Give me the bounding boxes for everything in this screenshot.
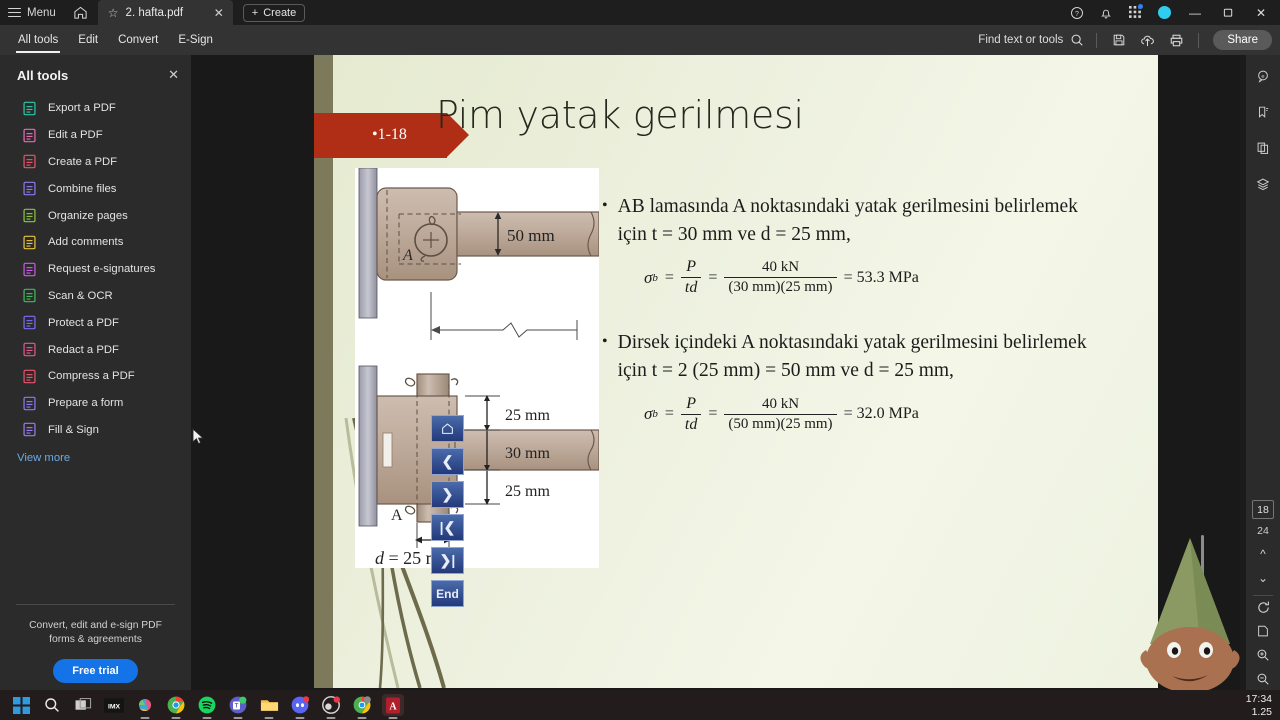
create-label: Create — [263, 7, 296, 19]
bullet-dot: • — [602, 329, 608, 384]
imx-app[interactable]: IMX — [103, 694, 125, 716]
slide-nav-buttons: ❮ ❯ |❮ ❯| End — [431, 415, 467, 613]
all-tools-item-label: Redact a PDF — [48, 344, 119, 356]
system-clock[interactable]: 17:34 1.25 — [1246, 693, 1272, 719]
slide-nav-last-button[interactable]: ❯| — [431, 547, 464, 574]
page-up-button[interactable]: ^ — [1246, 547, 1280, 561]
divider — [1198, 33, 1199, 48]
combine-files-icon — [22, 181, 37, 196]
fraction-numerator: 40 kN — [758, 396, 803, 414]
edit-pdf-icon — [22, 128, 37, 143]
acrobat-app[interactable]: A — [382, 694, 404, 716]
fraction-denominator: td — [681, 414, 701, 434]
divider — [16, 604, 175, 605]
find-label: Find text or tools — [978, 34, 1063, 46]
start-button[interactable] — [10, 694, 32, 716]
divider — [1096, 33, 1097, 48]
account-avatar-icon[interactable] — [1151, 0, 1177, 25]
maximize-button[interactable] — [1213, 0, 1243, 25]
fraction-denominator: (50 mm)(25 mm) — [724, 414, 836, 433]
all-tools-item-combine-files[interactable]: Combine files — [0, 175, 191, 202]
notification-dot — [1138, 4, 1143, 9]
all-tools-item-compress-a-pdf[interactable]: Compress a PDF — [0, 363, 191, 390]
fit-page-icon[interactable] — [1246, 624, 1280, 638]
star-icon[interactable]: ☆ — [108, 6, 119, 20]
tab-convert[interactable]: Convert — [108, 25, 168, 55]
sigma-subscript: b — [652, 272, 658, 284]
mouse-cursor — [192, 428, 205, 446]
windows-taskbar: IMX T — [0, 690, 1280, 720]
compress-pdf-icon — [22, 369, 37, 384]
equals-sign: = — [665, 269, 674, 287]
fraction-p-td: P td — [681, 395, 701, 434]
figure-label-50mm: 50 mm — [507, 226, 555, 245]
chrome-beta-app[interactable] — [351, 694, 373, 716]
close-icon[interactable]: ✕ — [168, 67, 179, 83]
tab-title: 2. hafta.pdf — [126, 7, 205, 19]
all-tools-item-label: Organize pages — [48, 210, 128, 222]
slide-nav-first-button[interactable]: |❮ — [431, 514, 464, 541]
fraction-numeric: 40 kN (50 mm)(25 mm) — [724, 396, 836, 433]
share-button[interactable]: Share — [1213, 30, 1272, 50]
file-explorer-app[interactable] — [258, 694, 280, 716]
title-bar: Menu ☆ 2. hafta.pdf ✕ + Create ? — [0, 0, 1280, 25]
equals-sign: = — [665, 405, 674, 423]
zoom-in-icon[interactable] — [1246, 648, 1280, 662]
page-down-button[interactable]: ⌄ — [1246, 571, 1280, 585]
figure-point-a-bottom: A — [391, 507, 403, 524]
bell-icon[interactable] — [1093, 0, 1119, 25]
gnome-character-overlay — [1134, 532, 1246, 692]
right-rail: e 18 24 ^ ⌄ — [1246, 55, 1280, 720]
all-tools-header: All tools ✕ — [0, 55, 191, 83]
hamburger-icon — [8, 5, 21, 20]
fraction-numerator: P — [682, 395, 700, 414]
all-tools-item-label: Export a PDF — [48, 102, 116, 114]
all-tools-item-label: Edit a PDF — [48, 129, 103, 141]
save-icon[interactable] — [1105, 27, 1132, 53]
menu-button[interactable]: Menu — [0, 0, 65, 25]
slide-nav-next-button[interactable]: ❯ — [431, 481, 464, 508]
figure-label-30mm: 30 mm — [505, 445, 550, 462]
equals-sign: = — [708, 269, 717, 287]
all-tools-item-request-e-signatures[interactable]: Request e-signatures — [0, 256, 191, 283]
all-tools-item-label: Prepare a form — [48, 397, 123, 409]
home-button[interactable] — [65, 0, 96, 25]
all-tools-item-label: Add comments — [48, 236, 123, 248]
fraction-denominator: (30 mm)(25 mm) — [724, 277, 836, 296]
svg-text:e: e — [1261, 74, 1264, 80]
all-tools-item-organize-pages[interactable]: Organize pages — [0, 202, 191, 229]
fraction-numeric: 40 kN (30 mm)(25 mm) — [724, 259, 836, 296]
cloud-upload-icon[interactable] — [1134, 27, 1161, 53]
apps-grid-icon[interactable] — [1122, 0, 1148, 25]
all-tools-item-redact-a-pdf[interactable]: Redact a PDF — [0, 336, 191, 363]
search-icon — [1070, 33, 1084, 47]
organize-pages-icon — [22, 208, 37, 223]
share-label: Share — [1227, 34, 1258, 46]
svg-text:T: T — [235, 704, 239, 710]
document-tab[interactable]: ☆ 2. hafta.pdf ✕ — [98, 0, 233, 25]
all-tools-item-label: Request e-signatures — [48, 263, 155, 275]
fraction-denominator: td — [681, 277, 701, 297]
create-pdf-icon — [22, 154, 37, 169]
zoom-out-icon[interactable] — [1246, 672, 1280, 686]
tab-label: All tools — [18, 34, 58, 46]
rotate-icon[interactable] — [1246, 600, 1280, 615]
prepare-form-icon — [22, 396, 37, 411]
all-tools-item-label: Create a PDF — [48, 156, 117, 168]
sigma-subscript: b — [652, 408, 658, 420]
slide-nav-previous-button[interactable]: ❮ — [431, 448, 464, 475]
print-icon[interactable] — [1163, 27, 1190, 53]
find-text-or-tools[interactable]: Find text or tools — [978, 33, 1088, 47]
view-more-link[interactable]: View more — [0, 452, 191, 464]
fraction-numerator: P — [682, 258, 700, 277]
tools-bar: All tools Edit Convert E-Sign Find text … — [0, 25, 1280, 55]
bullet-item-1: • AB lamasında A noktasındaki yatak geri… — [602, 193, 1102, 248]
bullet-item-2: • Dirsek içindeki A noktasındaki yatak g… — [602, 329, 1102, 384]
all-tools-list: Export a PDFEdit a PDFCreate a PDFCombin… — [0, 95, 191, 443]
plus-icon: + — [252, 7, 258, 19]
divider — [1253, 595, 1273, 596]
teams-app[interactable]: T — [227, 694, 249, 716]
total-pages-label: 24 — [1246, 525, 1280, 537]
figure-label-25mm-upper: 25 mm — [505, 407, 550, 424]
fraction-p-td: P td — [681, 258, 701, 297]
sigma-symbol: σ — [644, 404, 652, 424]
formula-result: = 32.0 MPa — [844, 405, 919, 423]
bullet-dot: • — [602, 193, 608, 248]
svg-text:A: A — [389, 701, 397, 712]
chrome-app[interactable] — [165, 694, 187, 716]
svg-text:?: ? — [1075, 10, 1079, 17]
tab-all-tools[interactable]: All tools — [8, 25, 68, 55]
document-viewer[interactable]: •1-18 Pim yatak gerilmesi — [191, 55, 1240, 720]
help-circle-icon[interactable]: ? — [1064, 0, 1090, 25]
current-page-input[interactable]: 18 — [1252, 500, 1274, 519]
add-comments-icon — [22, 235, 37, 250]
home-icon — [73, 5, 88, 20]
home-icon — [441, 422, 454, 435]
equals-sign: = — [708, 405, 717, 423]
all-tools-footer: Convert, edit and e-sign PDF forms & agr… — [16, 604, 175, 683]
slide-banner: •1-18 — [314, 113, 447, 158]
task-view-button[interactable] — [72, 694, 94, 716]
export-pdf-icon — [22, 101, 37, 116]
figure-label-25mm-lower: 25 mm — [505, 483, 550, 500]
all-tools-item-edit-a-pdf[interactable]: Edit a PDF — [0, 122, 191, 149]
tab-esign[interactable]: E-Sign — [168, 25, 223, 55]
engineering-figure: A 50 mm — [355, 168, 599, 568]
tab-label: Edit — [78, 34, 98, 46]
formula-1: σb = P td = 40 kN (30 mm)(25 mm) = 53.3 … — [644, 258, 1102, 297]
comment-icon[interactable]: e — [1246, 61, 1280, 91]
all-tools-item-prepare-a-form[interactable]: Prepare a form — [0, 390, 191, 417]
slide-nav-home-button[interactable] — [431, 415, 464, 442]
protect-pdf-icon — [22, 315, 37, 330]
discord-app[interactable] — [289, 694, 311, 716]
copilot-app[interactable] — [134, 694, 156, 716]
pages-thumbnail-icon[interactable] — [1246, 133, 1280, 163]
all-tools-item-scan-ocr[interactable]: Scan & OCR — [0, 283, 191, 310]
all-tools-panel: All tools ✕ Export a PDFEdit a PDFCreate… — [0, 55, 191, 720]
free-trial-button[interactable]: Free trial — [53, 659, 137, 683]
slide-body: • AB lamasında A noktasındaki yatak geri… — [602, 193, 1102, 434]
all-tools-item-label: Scan & OCR — [48, 290, 113, 302]
slide-title: Pim yatak gerilmesi — [436, 93, 804, 137]
fraction-numerator: 40 kN — [758, 259, 803, 277]
promo-text: Convert, edit and e-sign PDF forms & agr… — [16, 619, 175, 647]
search-button[interactable] — [41, 694, 63, 716]
tab-label: E-Sign — [178, 34, 213, 46]
close-icon[interactable]: ✕ — [212, 6, 226, 20]
bullet-text: Dirsek içindeki A noktasındaki yatak ger… — [618, 329, 1102, 384]
banner-text: •1-18 — [372, 127, 407, 144]
panel-title: All tools — [17, 68, 68, 83]
bookmark-icon[interactable] — [1246, 97, 1280, 127]
bullet-text: AB lamasında A noktasındaki yatak gerilm… — [618, 193, 1102, 248]
all-tools-item-label: Combine files — [48, 183, 116, 195]
tab-edit[interactable]: Edit — [68, 25, 108, 55]
svg-text:IMX: IMX — [108, 703, 121, 710]
clock-date: 1.25 — [1246, 706, 1272, 719]
all-tools-item-label: Fill & Sign — [48, 424, 99, 436]
create-button[interactable]: + Create — [243, 4, 305, 22]
menu-label: Menu — [27, 7, 56, 19]
pdf-page: •1-18 Pim yatak gerilmesi — [314, 55, 1158, 688]
close-button[interactable]: ✕ — [1246, 0, 1276, 25]
redact-pdf-icon — [22, 342, 37, 357]
all-tools-item-label: Protect a PDF — [48, 317, 119, 329]
obs-app[interactable] — [320, 694, 342, 716]
request-esignatures-icon — [22, 262, 37, 277]
all-tools-item-fill-sign[interactable]: Fill & Sign — [0, 417, 191, 444]
all-tools-item-label: Compress a PDF — [48, 370, 135, 382]
acrobat-window: Menu ☆ 2. hafta.pdf ✕ + Create ? — [0, 0, 1280, 720]
formula-result: = 53.3 MPa — [844, 269, 919, 287]
tab-label: Convert — [118, 34, 158, 46]
scan-ocr-icon — [22, 288, 37, 303]
spotify-app[interactable] — [196, 694, 218, 716]
sigma-symbol: σ — [644, 268, 652, 288]
all-tools-item-export-a-pdf[interactable]: Export a PDF — [0, 95, 191, 122]
slide-nav-end-button[interactable]: End — [431, 580, 464, 607]
figure-point-a-top: A — [402, 247, 413, 264]
titlebar-right-controls: ? — ✕ — [1064, 0, 1280, 25]
minimize-button[interactable]: — — [1180, 0, 1210, 25]
fill-sign-icon — [22, 422, 37, 437]
clock-time: 17:34 — [1246, 693, 1272, 706]
layers-icon[interactable] — [1246, 169, 1280, 199]
toolsbar-right-controls: Find text or tools Share — [978, 27, 1280, 53]
all-tools-item-protect-a-pdf[interactable]: Protect a PDF — [0, 309, 191, 336]
all-tools-item-create-a-pdf[interactable]: Create a PDF — [0, 149, 191, 176]
all-tools-item-add-comments[interactable]: Add comments — [0, 229, 191, 256]
formula-2: σb = P td = 40 kN (50 mm)(25 mm) = 32.0 … — [644, 395, 1102, 434]
